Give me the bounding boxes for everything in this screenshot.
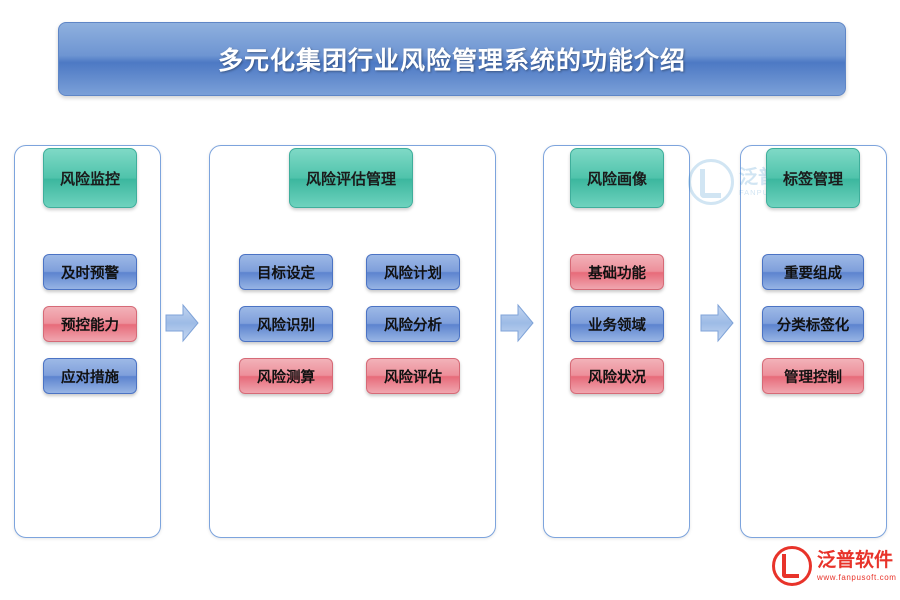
fanpu-logo-icon [772,546,812,586]
item-timely-warning[interactable]: 及时预警 [43,254,137,290]
item-goal-setting[interactable]: 目标设定 [239,254,333,290]
item-risk-status[interactable]: 风险状况 [570,358,664,394]
brand-url: www.fanpusoft.com [817,573,897,583]
item-risk-measurement[interactable]: 风险测算 [239,358,333,394]
brand-logo-bottom-right: 泛普软件 www.fanpusoft.com [772,540,894,592]
item-important-component[interactable]: 重要组成 [762,254,864,290]
item-risk-analysis[interactable]: 风险分析 [366,306,460,342]
arrow-col3-col4 [700,303,734,343]
item-risk-identification[interactable]: 风险识别 [239,306,333,342]
page-title-banner: 多元化集团行业风险管理系统的功能介绍 [58,22,846,96]
item-business-domain[interactable]: 业务领域 [570,306,664,342]
item-risk-evaluation[interactable]: 风险评估 [366,358,460,394]
fanpu-logo-icon [688,159,734,205]
brand-name-cn: 泛普软件 [817,550,897,573]
item-management-control[interactable]: 管理控制 [762,358,864,394]
item-pre-control-capability[interactable]: 预控能力 [43,306,137,342]
item-risk-plan[interactable]: 风险计划 [366,254,460,290]
page-title: 多元化集团行业风险管理系统的功能介绍 [218,41,686,77]
column-header-tag-management[interactable]: 标签管理 [766,148,860,208]
arrow-col2-col3 [500,303,534,343]
column-header-risk-portrait[interactable]: 风险画像 [570,148,664,208]
item-classified-tagging[interactable]: 分类标签化 [762,306,864,342]
item-response-measures[interactable]: 应对措施 [43,358,137,394]
item-basic-function[interactable]: 基础功能 [570,254,664,290]
column-header-risk-monitoring[interactable]: 风险监控 [43,148,137,208]
column-header-risk-assessment-management[interactable]: 风险评估管理 [289,148,413,208]
arrow-col1-col2 [165,303,199,343]
